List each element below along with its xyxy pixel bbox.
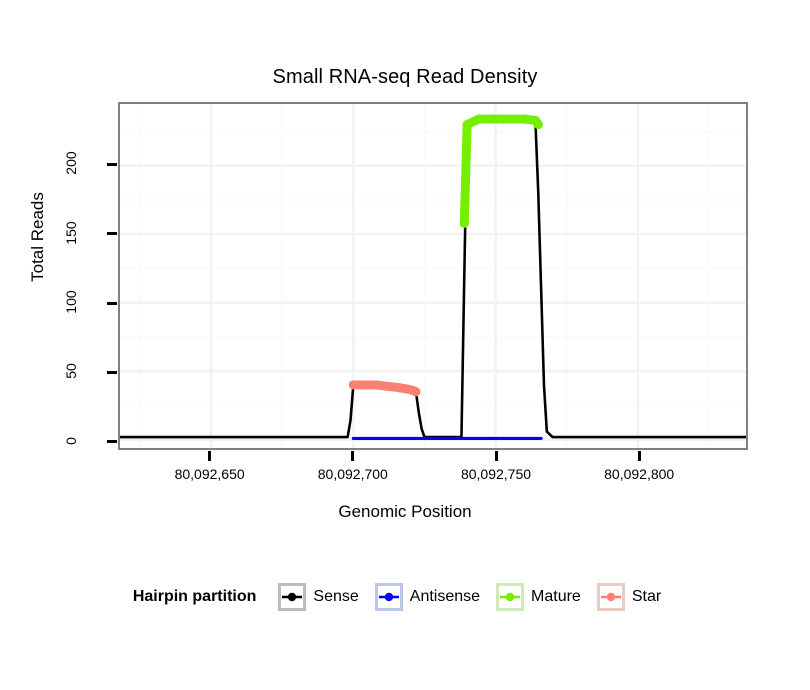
- x-tick-mark: [208, 451, 211, 461]
- data-point-mature: [508, 115, 517, 124]
- data-point-mature: [474, 115, 483, 124]
- legend-key-icon: [375, 583, 403, 611]
- legend-key-icon: [278, 583, 306, 611]
- legend-key-icon: [496, 583, 524, 611]
- data-point-star: [394, 383, 403, 392]
- x-tick-label: 80,092,650: [175, 466, 245, 482]
- x-tick-label: 80,092,700: [318, 466, 388, 482]
- y-tick-mark: [107, 371, 117, 374]
- x-tick-label: 80,092,750: [461, 466, 531, 482]
- legend-label: Star: [632, 588, 661, 606]
- data-point-mature: [460, 219, 469, 228]
- x-axis-title: Genomic Position: [0, 502, 810, 522]
- data-point-star: [349, 380, 358, 389]
- legend-item-sense[interactable]: Sense: [278, 583, 358, 611]
- data-point-mature: [534, 120, 543, 129]
- legend-label: Antisense: [410, 588, 480, 606]
- legend-items: SenseAntisenseMatureStar: [278, 583, 677, 611]
- data-point-star: [383, 382, 392, 391]
- legend-title: Hairpin partition: [133, 588, 257, 606]
- legend-label: Sense: [313, 588, 358, 606]
- y-tick-label: 50: [63, 346, 79, 396]
- chart-title: Small RNA-seq Read Density: [0, 66, 810, 89]
- chart-container: Small RNA-seq Read Density Total Reads 0…: [0, 0, 810, 690]
- y-tick-label: 150: [63, 208, 79, 258]
- series-line-sense: [120, 122, 746, 437]
- series-line-mature: [464, 119, 538, 223]
- data-point-star: [411, 387, 420, 396]
- x-tick-mark: [351, 451, 354, 461]
- y-tick-label: 100: [63, 277, 79, 327]
- data-point-star: [372, 380, 381, 389]
- y-tick-mark: [107, 440, 117, 443]
- gridlines: [120, 104, 746, 448]
- data-point-mature: [485, 115, 494, 124]
- x-tick-label: 80,092,800: [604, 466, 674, 482]
- legend-item-antisense[interactable]: Antisense: [375, 583, 480, 611]
- series-layer: [120, 115, 746, 439]
- legend-item-star[interactable]: Star: [597, 583, 661, 611]
- y-axis-title: Total Reads: [28, 137, 48, 337]
- y-tick-mark: [107, 163, 117, 166]
- legend-item-mature[interactable]: Mature: [496, 583, 581, 611]
- legend-label: Mature: [531, 588, 581, 606]
- x-tick-mark: [638, 451, 641, 461]
- y-tick-label: 200: [63, 138, 79, 188]
- legend-key-icon: [597, 583, 625, 611]
- legend: Hairpin partition SenseAntisenseMatureSt…: [0, 583, 810, 611]
- plot-panel: [118, 102, 748, 450]
- data-point-mature: [463, 120, 472, 129]
- x-tick-mark: [495, 451, 498, 461]
- data-point-mature: [519, 115, 528, 124]
- y-tick-mark: [107, 232, 117, 235]
- data-point-mature: [497, 115, 506, 124]
- y-tick-mark: [107, 302, 117, 305]
- data-point-star: [360, 380, 369, 389]
- y-tick-label: 0: [63, 416, 79, 466]
- plot-area: [120, 104, 746, 448]
